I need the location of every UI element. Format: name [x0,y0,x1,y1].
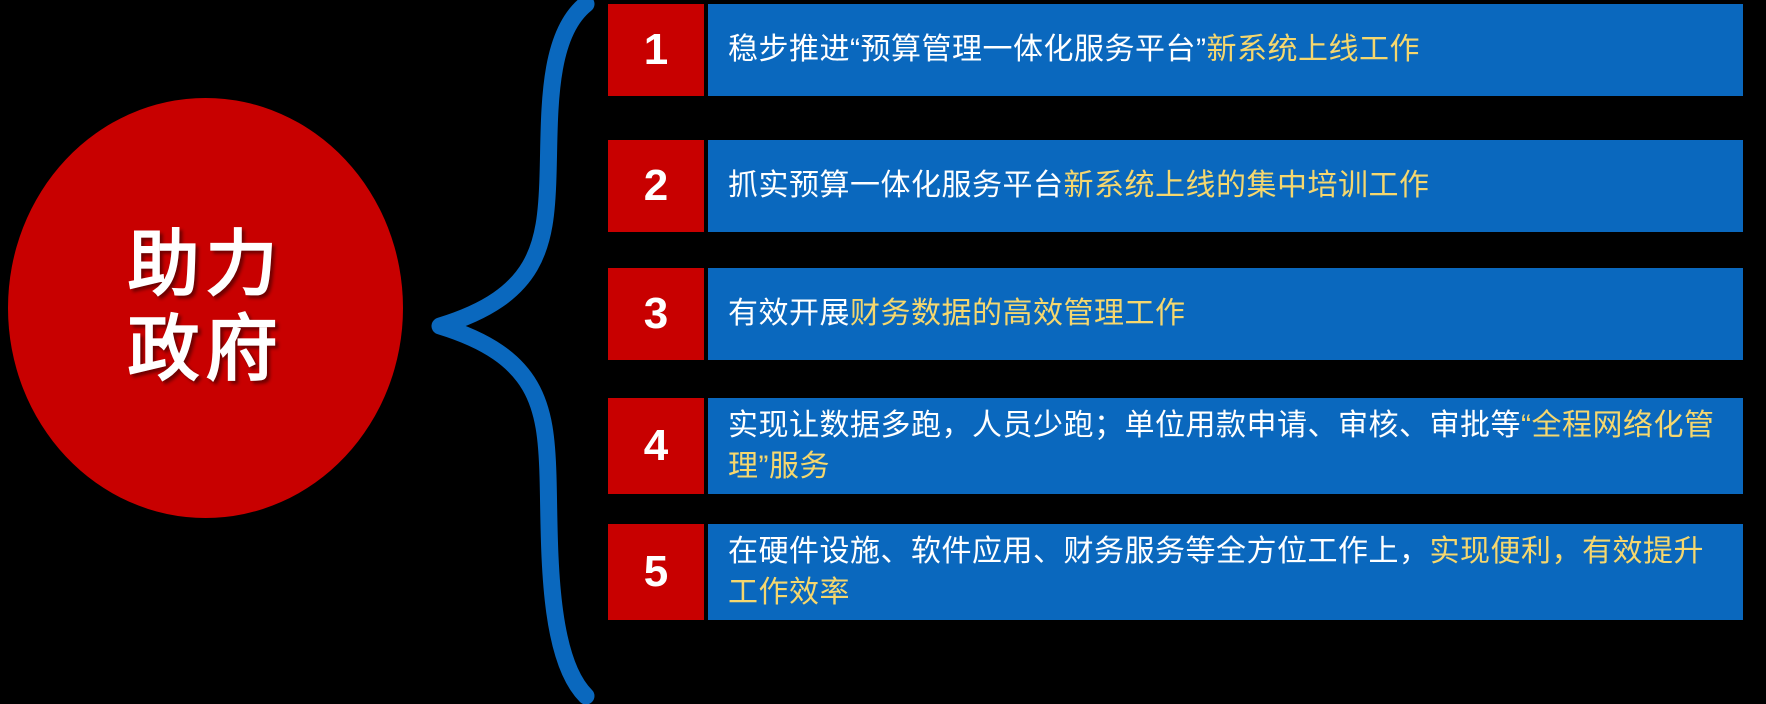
row-text: 抓实预算一体化服务平台新系统上线的集中培训工作 [728,165,1430,208]
row-text-plain: 抓实预算一体化服务平台 [728,169,1064,202]
curly-brace-icon [418,0,608,704]
row-text: 稳步推进“预算管理一体化服务平台”新系统上线工作 [728,29,1420,72]
row-text: 有效开展财务数据的高效管理工作 [728,293,1186,336]
row-content: 稳步推进“预算管理一体化服务平台”新系统上线工作 [708,4,1743,96]
list-item[interactable]: 1 稳步推进“预算管理一体化服务平台”新系统上线工作 [608,4,1743,96]
row-number-badge: 1 [608,4,704,96]
row-text: 在硬件设施、软件应用、财务服务等全方位工作上，实现便利，有效提升工作效率 [728,531,1729,614]
row-number-badge: 4 [608,398,704,494]
row-text-plain: 在硬件设施、软件应用、财务服务等全方位工作上， [728,535,1430,568]
row-number-badge: 2 [608,140,704,232]
row-text-highlight: 新系统上线的集中培训工作 [1064,169,1430,202]
row-content: 实现让数据多跑，人员少跑；单位用款申请、审核、审批等“全程网络化管理”服务 [708,398,1743,494]
circle-title-line-2: 政府 [127,308,283,393]
row-content: 有效开展财务数据的高效管理工作 [708,268,1743,360]
row-number-badge: 3 [608,268,704,360]
list-item[interactable]: 5 在硬件设施、软件应用、财务服务等全方位工作上，实现便利，有效提升工作效率 [608,524,1743,620]
row-text-highlight: 财务数据的高效管理工作 [850,297,1186,330]
row-text-plain: 有效开展 [728,297,850,330]
row-number-badge: 5 [608,524,704,620]
numbered-list: 1 稳步推进“预算管理一体化服务平台”新系统上线工作 2 抓实预算一体化服务平台… [608,0,1748,704]
row-text: 实现让数据多跑，人员少跑；单位用款申请、审核、审批等“全程网络化管理”服务 [728,405,1729,488]
row-content: 抓实预算一体化服务平台新系统上线的集中培训工作 [708,140,1743,232]
title-circle: 助力 政府 [8,98,403,518]
row-content: 在硬件设施、软件应用、财务服务等全方位工作上，实现便利，有效提升工作效率 [708,524,1743,620]
row-text-plain: 实现让数据多跑，人员少跑；单位用款申请、审核、审批等 [728,409,1521,442]
list-item[interactable]: 2 抓实预算一体化服务平台新系统上线的集中培训工作 [608,140,1743,232]
circle-title-line-1: 助力 [127,223,283,308]
slide-canvas: 助力 政府 1 稳步推进“预算管理一体化服务平台”新系统上线工作 2 抓实预算一… [0,0,1766,704]
list-item[interactable]: 3 有效开展财务数据的高效管理工作 [608,268,1743,360]
curly-brace [418,0,608,704]
list-item[interactable]: 4 实现让数据多跑，人员少跑；单位用款申请、审核、审批等“全程网络化管理”服务 [608,398,1743,494]
row-text-plain: 稳步推进“预算管理一体化服务平台” [728,33,1206,66]
row-text-highlight: 新系统上线工作 [1206,33,1420,66]
